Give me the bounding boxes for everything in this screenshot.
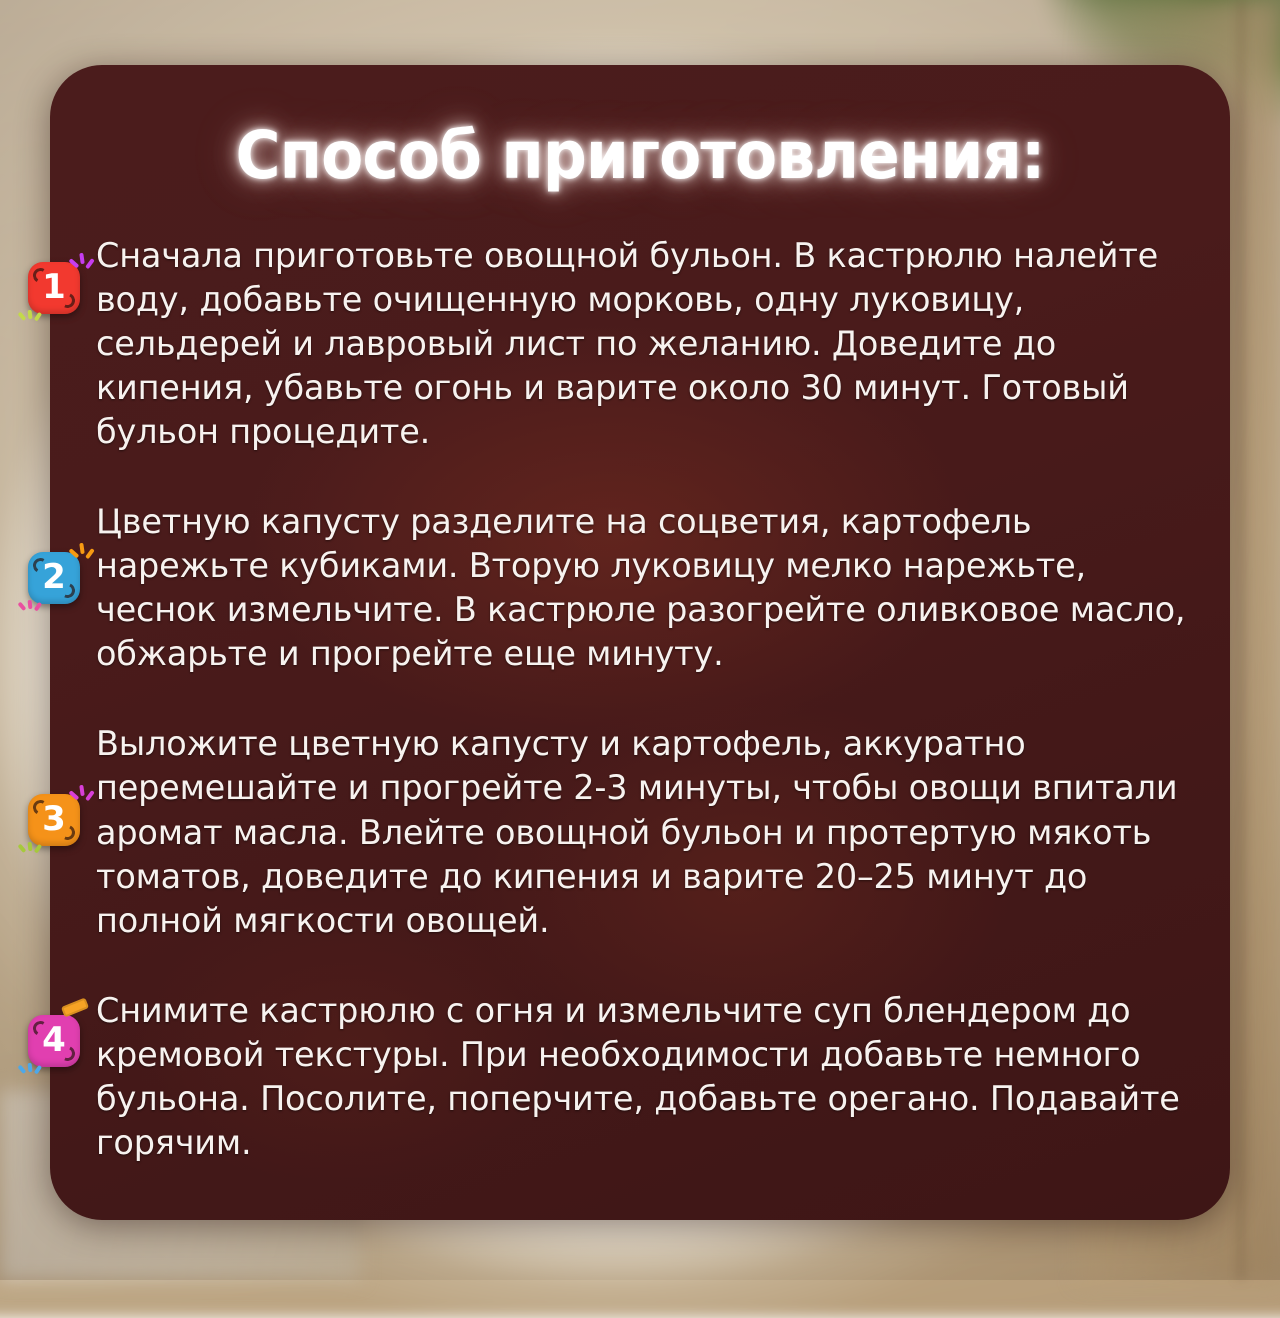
step-text: Цветную капусту разделите на соцветия, к…: [96, 500, 1188, 676]
step-number-badge-2: 2: [28, 552, 80, 604]
step-text: Выложите цветную капусту и картофель, ак…: [96, 722, 1188, 942]
step-item: 3 Выложите цветную капусту и картофель, …: [96, 722, 1188, 942]
sparkle-icon: [69, 540, 95, 566]
sparkle-icon: [69, 782, 95, 808]
step-number-label: 2: [42, 560, 66, 594]
step-number-badge-3: 3: [28, 794, 80, 846]
step-number-badge-4: 4: [28, 1015, 80, 1067]
step-item: 1 Сначала приготовьте овощной бульон. В …: [96, 234, 1188, 454]
step-number-badge-1: 1: [28, 262, 80, 314]
step-text: Снимите кастрюлю с огня и измельчите суп…: [96, 989, 1188, 1165]
tape-icon: [61, 997, 89, 1017]
step-number-label: 4: [42, 1023, 66, 1057]
sparkle-icon: [69, 250, 95, 276]
step-item: 4 Снимите кастрюлю с огня и измельчите с…: [96, 989, 1188, 1165]
steps-list: 1 Сначала приготовьте овощной бульон. В …: [50, 234, 1230, 1165]
step-number-label: 1: [42, 270, 66, 304]
page-title: Способ приготовления:: [91, 117, 1188, 194]
step-text: Сначала приготовьте овощной бульон. В ка…: [96, 234, 1188, 454]
step-item: 2 Цветную капусту разделите на соцветия,…: [96, 500, 1188, 676]
step-number-label: 3: [42, 802, 66, 836]
recipe-card: Способ приготовления: 1 Сначала приготов…: [50, 65, 1230, 1220]
